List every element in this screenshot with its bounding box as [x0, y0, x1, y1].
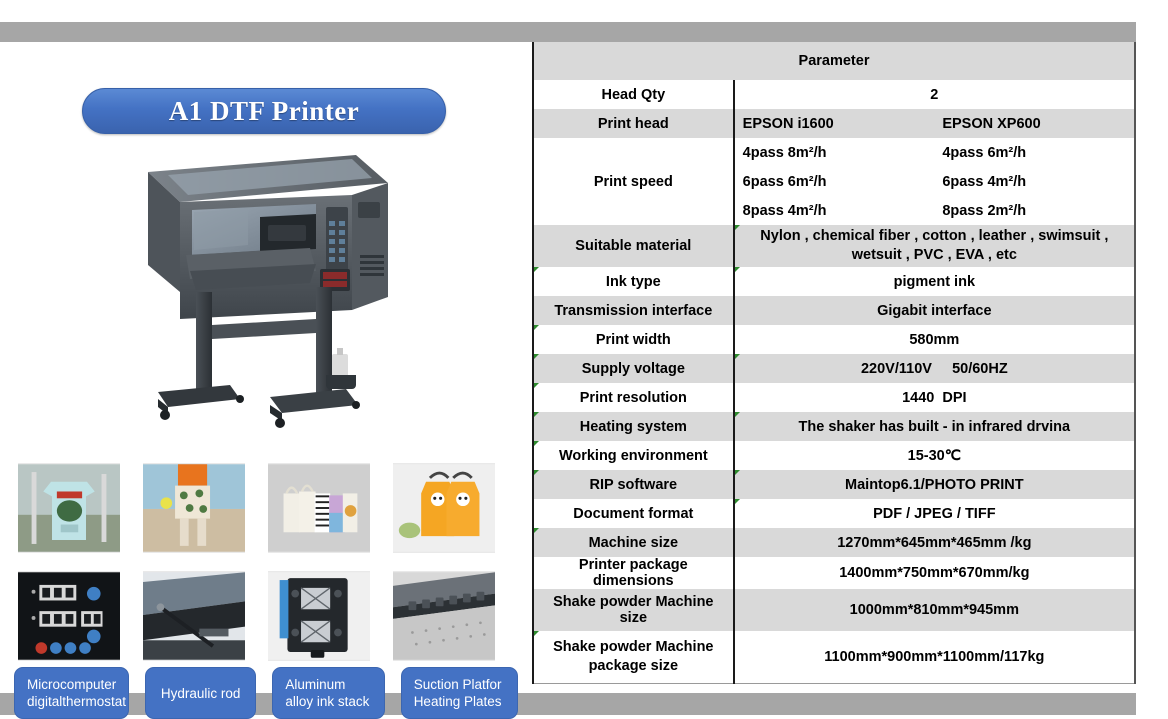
parameter-table: Parameter Head Qty 2 Print head EPSON i1… — [532, 42, 1136, 684]
table-row-print-head: Print head EPSON i1600 EPSON XP600 — [533, 109, 1135, 138]
hydraulic-rod-photo — [143, 571, 245, 661]
table-row-print-resolution: Print resolution 1440 DPI — [533, 383, 1135, 412]
row-label: Machine size — [533, 528, 734, 557]
table-row-supply-voltage: Supply voltage 220V/110V 50/60HZ — [533, 354, 1135, 383]
parameter-table-title: Parameter — [533, 42, 1135, 80]
printed-tote-bags-photo — [268, 463, 370, 553]
table-row-working-environment: Working environment 15-30℃ — [533, 441, 1135, 470]
table-row-print-speed-1: Print speed 4pass 8m²/h 4pass 6m²/h — [533, 138, 1135, 167]
caption-suction-heating-plates[interactable]: Suction Platfor Heating Plates — [401, 667, 518, 719]
row-value: 220V/110V 50/60HZ — [734, 354, 1135, 383]
printed-tshirt-photo — [18, 463, 120, 553]
top-gray-band — [0, 22, 1136, 42]
row-label: Head Qty — [533, 80, 734, 109]
row-value-col1: EPSON i1600 — [734, 109, 935, 138]
caption-aluminum-ink-stack[interactable]: Aluminum alloy ink stack — [272, 667, 384, 719]
table-row-rip-software: RIP software Maintop6.1/PHOTO PRINT — [533, 470, 1135, 499]
row-value-col2: 6pass 4m²/h — [934, 167, 1135, 196]
row-value: PDF / JPEG / TIFF — [734, 499, 1135, 528]
row-value-col2: EPSON XP600 — [934, 109, 1135, 138]
row-label: Heating system — [533, 412, 734, 441]
row-value: Maintop6.1/PHOTO PRINT — [734, 470, 1135, 499]
row-label: Ink type — [533, 267, 734, 296]
row-label: Document format — [533, 499, 734, 528]
parameter-table-panel: Parameter Head Qty 2 Print head EPSON i1… — [532, 42, 1136, 693]
row-label: Supply voltage — [533, 354, 734, 383]
row-label: Print head — [533, 109, 734, 138]
table-row-transmission-interface: Transmission interface Gigabit interface — [533, 296, 1135, 325]
application-sample-gallery — [18, 463, 518, 553]
table-row-shake-powder-machine-size: Shake powder Machine size 1000mm*810mm*9… — [533, 589, 1135, 631]
row-label: RIP software — [533, 470, 734, 499]
row-value-col1: 8pass 4m²/h — [734, 196, 935, 225]
row-label: Print resolution — [533, 383, 734, 412]
row-label: Suitable material — [533, 225, 734, 267]
component-caption-row: Microcomputer digitalthermostat Hydrauli… — [14, 667, 534, 719]
table-row-heating-system: Heating system The shaker has built - in… — [533, 412, 1135, 441]
row-value-col2: 4pass 6m²/h — [934, 138, 1135, 167]
table-row-suitable-material: Suitable material Nylon , chemical fiber… — [533, 225, 1135, 267]
table-row-ink-type: Ink type pigment ink — [533, 267, 1135, 296]
table-row-machine-size: Machine size 1270mm*645mm*465mm /kg — [533, 528, 1135, 557]
row-label: Shake powder Machine package size — [533, 631, 734, 683]
page-content: A1 DTF Printer — [0, 42, 1168, 693]
ink-stack-photo — [268, 571, 370, 661]
row-value: Gigabit interface — [734, 296, 1135, 325]
table-row-printer-package-dimensions: Printer package dimensions 1400mm*750mm*… — [533, 557, 1135, 589]
row-value: pigment ink — [734, 267, 1135, 296]
page-title: A1 DTF Printer — [169, 96, 359, 127]
table-row-document-format: Document format PDF / JPEG / TIFF — [533, 499, 1135, 528]
row-value: 1440 DPI — [734, 383, 1135, 412]
printed-shorts-photo — [143, 463, 245, 553]
row-value: 1000mm*810mm*945mm — [734, 589, 1135, 631]
caption-hydraulic-rod[interactable]: Hydraulic rod — [145, 667, 256, 719]
row-value: The shaker has built - in infrared drvin… — [734, 412, 1135, 441]
row-value: 15-30℃ — [734, 441, 1135, 470]
row-value-col1: 4pass 8m²/h — [734, 138, 935, 167]
table-row-print-width: Print width 580mm — [533, 325, 1135, 354]
row-value-col2: 8pass 2m²/h — [934, 196, 1135, 225]
product-title-banner: A1 DTF Printer — [82, 88, 446, 134]
row-value: 580mm — [734, 325, 1135, 354]
table-header-row: Parameter — [533, 42, 1135, 80]
row-label: Printer package dimensions — [533, 557, 734, 589]
row-label: Print speed — [533, 138, 734, 225]
caption-microcomputer-thermostat[interactable]: Microcomputer digitalthermostat — [14, 667, 129, 719]
row-label: Working environment — [533, 441, 734, 470]
row-value: Nylon , chemical fiber , cotton , leathe… — [734, 225, 1135, 267]
heating-plate-photo — [393, 571, 495, 661]
component-detail-gallery — [18, 571, 518, 661]
row-label: Print width — [533, 325, 734, 354]
printed-aprons-photo — [393, 463, 495, 553]
row-value: 1400mm*750mm*670mm/kg — [734, 557, 1135, 589]
table-row-shake-powder-package-size: Shake powder Machine package size 1100mm… — [533, 631, 1135, 683]
row-label: Shake powder Machine size — [533, 589, 734, 631]
table-row-head-qty: Head Qty 2 — [533, 80, 1135, 109]
row-value: 1270mm*645mm*465mm /kg — [734, 528, 1135, 557]
control-panel-photo — [18, 571, 120, 661]
product-visual-panel: A1 DTF Printer — [0, 42, 532, 693]
printer-product-image — [120, 147, 410, 452]
row-value-col1: 6pass 6m²/h — [734, 167, 935, 196]
row-value: 2 — [734, 80, 1135, 109]
row-label: Transmission interface — [533, 296, 734, 325]
row-value: 1100mm*900mm*1100mm/117kg — [734, 631, 1135, 683]
